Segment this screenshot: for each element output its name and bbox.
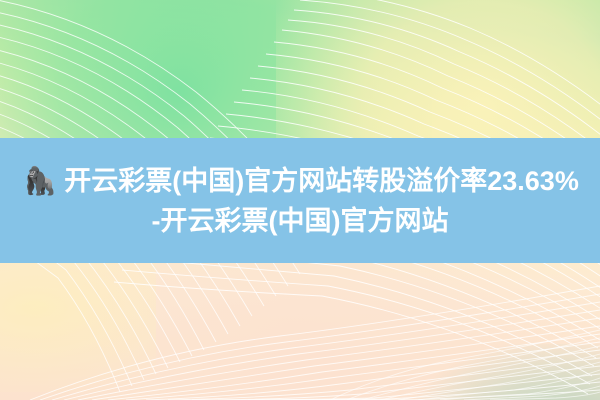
background-teal-accent bbox=[408, 344, 600, 400]
caption-line-primary: 🦍 开云彩票(中国)官方网站转股溢价率23.63% bbox=[21, 161, 579, 201]
caption-line-secondary: -开云彩票(中国)官方网站 bbox=[152, 201, 449, 241]
caption-band: 🦍 开云彩票(中国)官方网站转股溢价率23.63% -开云彩票(中国)官方网站 bbox=[0, 138, 600, 263]
promo-banner: 🦍 开云彩票(中国)官方网站转股溢价率23.63% -开云彩票(中国)官方网站 bbox=[0, 0, 600, 400]
